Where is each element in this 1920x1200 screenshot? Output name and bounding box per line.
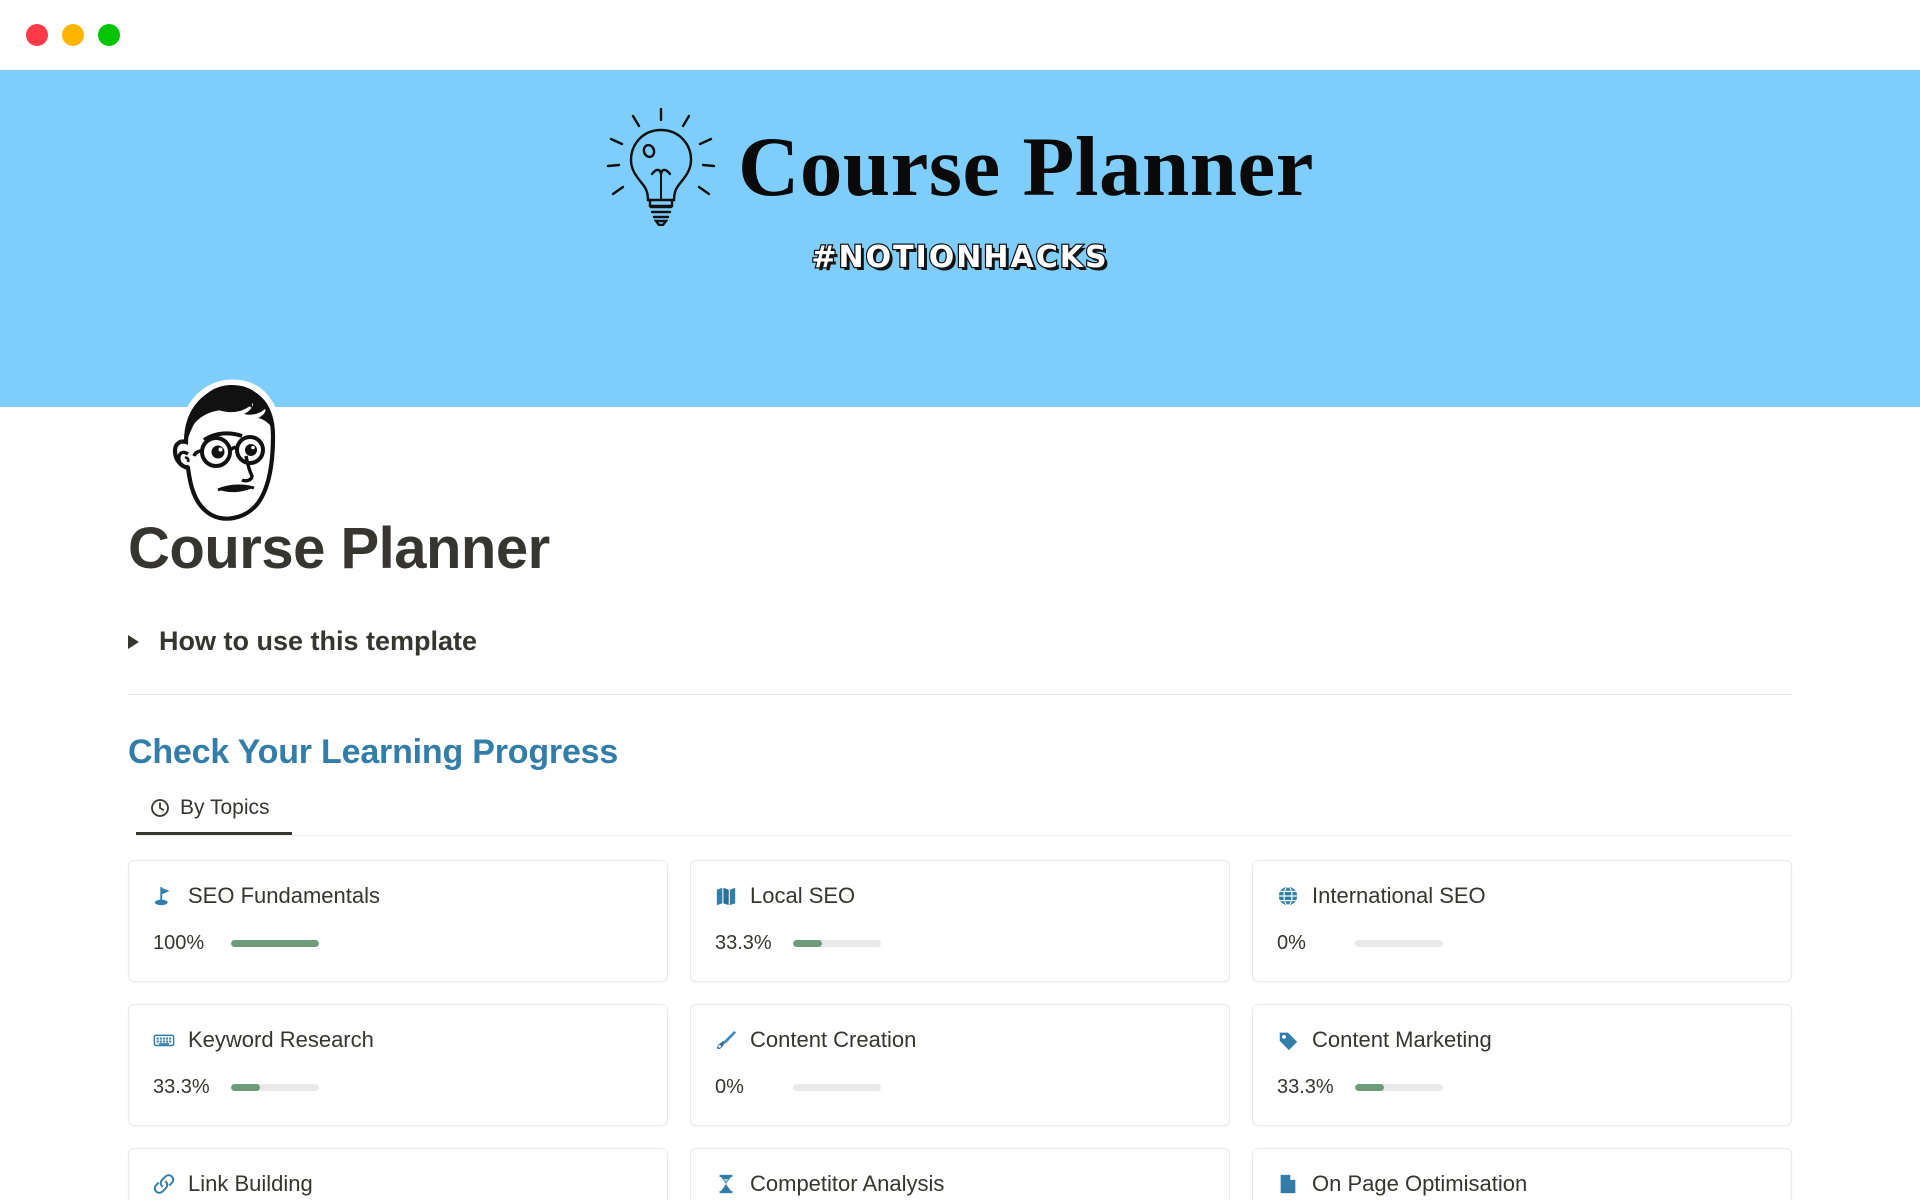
progress-bar-track [1355, 940, 1443, 947]
topic-card-head: Content Marketing [1277, 1027, 1767, 1053]
topic-card-title: SEO Fundamentals [188, 883, 380, 909]
topic-card[interactable]: Competitor Analysis 33.3% [690, 1148, 1230, 1200]
lightbulb-icon [606, 108, 716, 226]
topic-card[interactable]: International SEO 0% [1252, 860, 1792, 982]
keyboard-icon [153, 1029, 175, 1051]
progress-percent-label: 33.3% [1277, 1076, 1339, 1099]
page-document-icon [1277, 1173, 1299, 1195]
progress-bar-fill [231, 940, 319, 947]
progress-percent-label: 33.3% [715, 932, 777, 955]
progress-bar-track [793, 1084, 881, 1091]
progress-bar-fill [1355, 1084, 1384, 1091]
clock-icon [150, 798, 170, 818]
minimize-button[interactable] [62, 24, 84, 46]
progress-bar-fill [231, 1084, 260, 1091]
tab-by-topics-label: By Topics [180, 796, 270, 820]
progress-percent-label: 33.3% [153, 1076, 215, 1099]
topic-card[interactable]: Keyword Research 33.3% [128, 1004, 668, 1126]
topic-card-title: Link Building [188, 1171, 313, 1197]
paintbrush-icon [715, 1029, 737, 1051]
topic-card-progress: 33.3% [153, 1076, 643, 1099]
close-button[interactable] [26, 24, 48, 46]
progress-percent-label: 0% [1277, 932, 1339, 955]
topic-card-title: Competitor Analysis [750, 1171, 944, 1197]
topic-card-head: On Page Optimisation [1277, 1171, 1767, 1197]
page-title: Course Planner [128, 515, 1792, 582]
progress-percent-label: 0% [715, 1076, 777, 1099]
tag-icon [1277, 1029, 1299, 1051]
topic-card[interactable]: Local SEO 33.3% [690, 860, 1230, 982]
topic-card[interactable]: Content Creation 0% [690, 1004, 1230, 1126]
topic-card-title: On Page Optimisation [1312, 1171, 1527, 1197]
progress-bar-track [231, 940, 319, 947]
banner-subtitle: #NOTIONHACKS [811, 240, 1108, 275]
topic-card[interactable]: Link Building 0% [128, 1148, 668, 1200]
progress-bar-track [1355, 1084, 1443, 1091]
triangle-right-icon[interactable] [128, 635, 139, 649]
topic-card-head: Local SEO [715, 883, 1205, 909]
maximize-button[interactable] [98, 24, 120, 46]
how-to-use-toggle-label: How to use this template [159, 626, 477, 657]
topic-card[interactable]: Content Marketing 33.3% [1252, 1004, 1792, 1126]
learning-progress-heading: Check Your Learning Progress [128, 733, 1792, 772]
banner-logo-row: Course Planner [606, 108, 1314, 226]
topic-card-progress: 0% [1277, 932, 1767, 955]
topic-card-title: Keyword Research [188, 1027, 374, 1053]
hourglass-icon [715, 1173, 737, 1195]
tab-by-topics[interactable]: By Topics [136, 790, 292, 835]
golf-flag-icon [153, 885, 175, 907]
topic-card-head: Link Building [153, 1171, 643, 1197]
how-to-use-toggle[interactable]: How to use this template [128, 626, 1792, 657]
topic-card-head: International SEO [1277, 883, 1767, 909]
topic-card-title: International SEO [1312, 883, 1486, 909]
progress-bar-track [793, 940, 881, 947]
topic-card-head: Content Creation [715, 1027, 1205, 1053]
page-avatar[interactable] [164, 378, 288, 533]
topic-card-head: Competitor Analysis [715, 1171, 1205, 1197]
map-icon [715, 885, 737, 907]
topic-card-progress: 33.3% [1277, 1076, 1767, 1099]
topic-card-title: Content Marketing [1312, 1027, 1492, 1053]
globe-icon [1277, 885, 1299, 907]
page-cover-banner: Course Planner #NOTIONHACKS [0, 70, 1920, 407]
view-tab-bar: By Topics [136, 790, 1792, 836]
topic-card-title: Local SEO [750, 883, 855, 909]
topic-card[interactable]: SEO Fundamentals 100% [128, 860, 668, 982]
progress-bar-fill [793, 940, 822, 947]
topic-card-progress: 0% [715, 1076, 1205, 1099]
progress-percent-label: 100% [153, 932, 215, 955]
progress-bar-track [231, 1084, 319, 1091]
topic-card[interactable]: On Page Optimisation 0% [1252, 1148, 1792, 1200]
window-titlebar [0, 0, 1920, 70]
topic-card-head: Keyword Research [153, 1027, 643, 1053]
topic-card-progress: 100% [153, 932, 643, 955]
banner-title: Course Planner [738, 125, 1314, 210]
page-content: Course Planner How to use this template … [0, 515, 1920, 1200]
avatar-face-icon [164, 378, 288, 533]
topic-card-grid: SEO Fundamentals 100% Local SEO 33.3% [128, 860, 1792, 1200]
topic-card-head: SEO Fundamentals [153, 883, 643, 909]
topic-card-title: Content Creation [750, 1027, 916, 1053]
link-chain-icon [153, 1173, 175, 1195]
section-divider [128, 694, 1792, 695]
topic-card-progress: 33.3% [715, 932, 1205, 955]
